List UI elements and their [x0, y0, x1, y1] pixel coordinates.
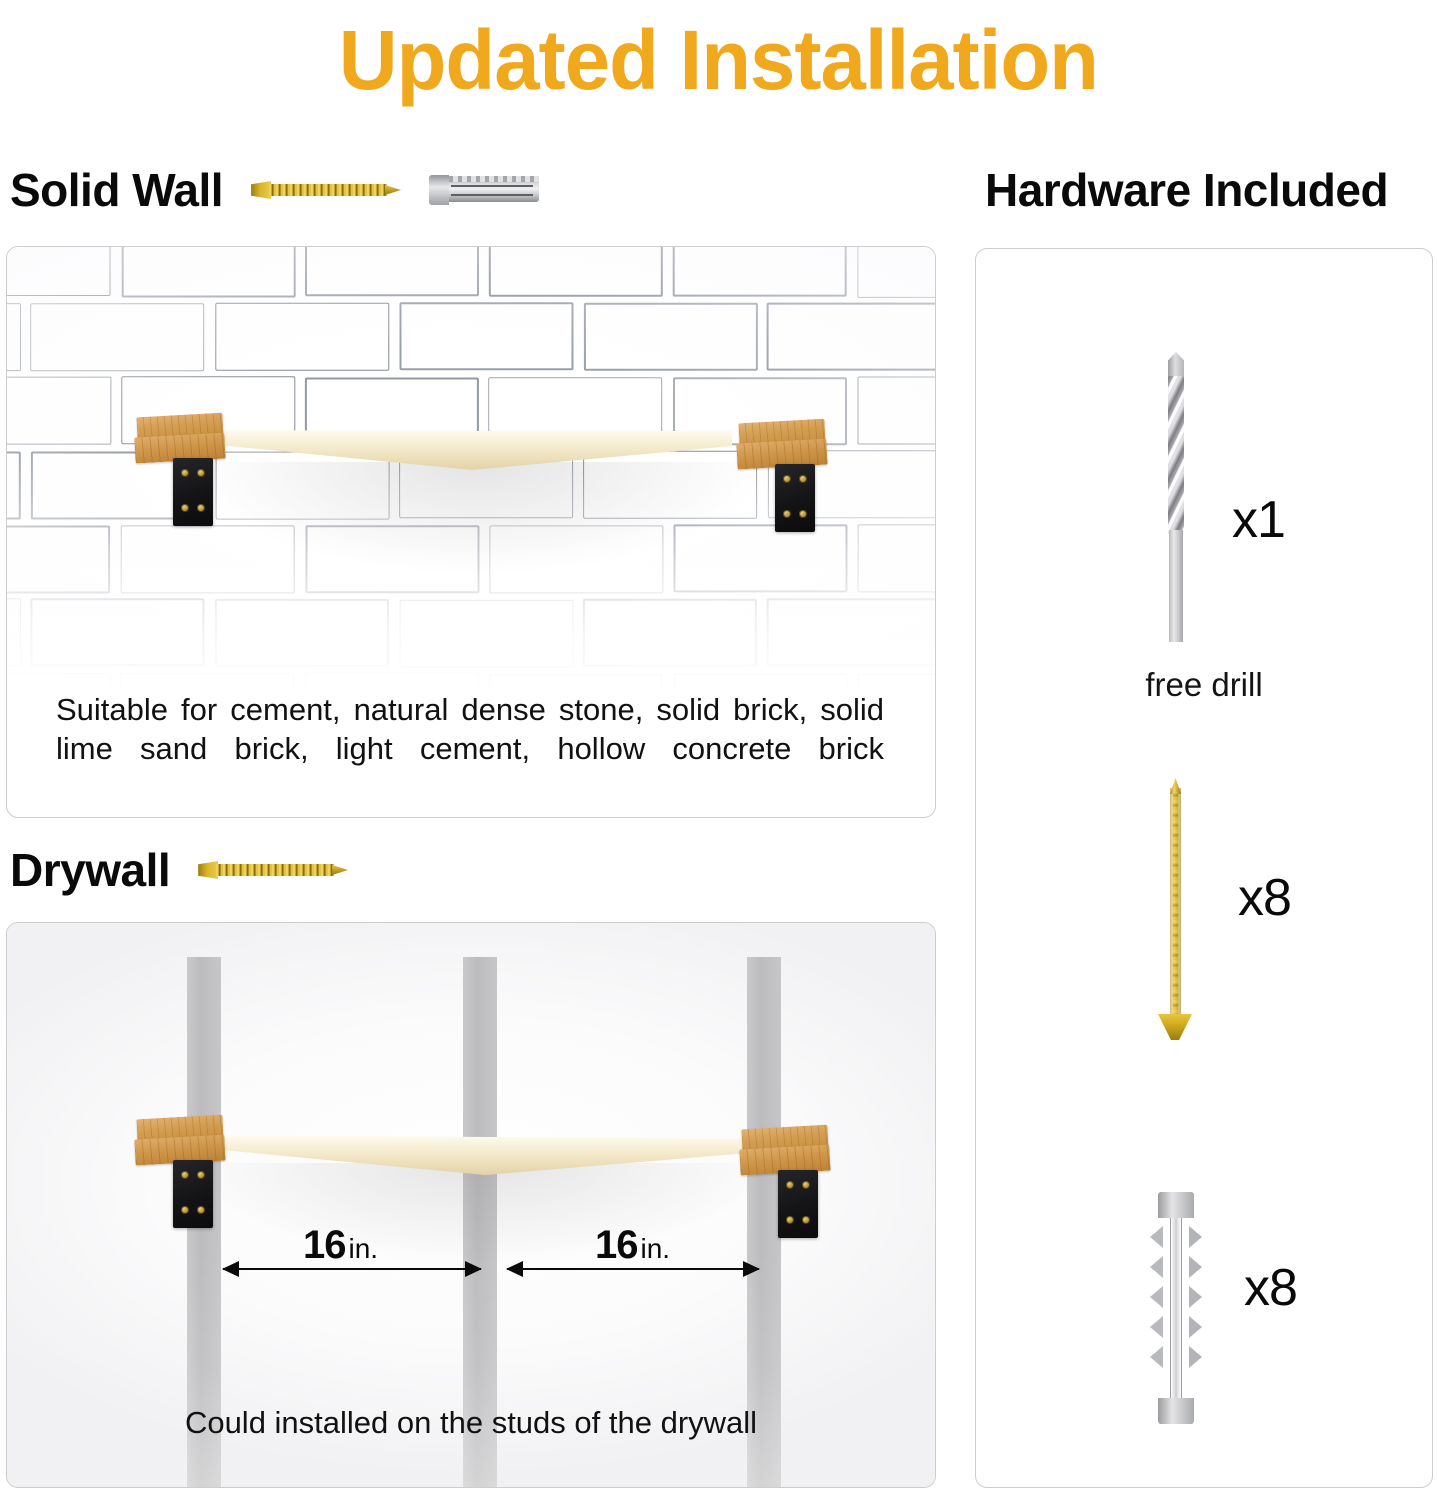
page-header: Updated Installation	[0, 0, 1437, 120]
shelf-assembly-drywall	[7, 923, 935, 1487]
wall-bracket-right	[740, 1125, 832, 1221]
drywall-heading: Drywall	[10, 843, 170, 897]
wall-bracket-left	[135, 1115, 227, 1211]
page-title: Updated Installation	[339, 18, 1098, 102]
drywall-caption: Could installed on the studs of the dryw…	[7, 1405, 935, 1441]
hardware-panel	[975, 248, 1433, 1488]
drill-bit-caption: free drill	[975, 666, 1433, 704]
wall-anchor-icon	[429, 175, 539, 205]
solid-wall-caption: Suitable for cement, natural dense stone…	[56, 690, 884, 807]
drill-bit-count: x1	[1232, 490, 1285, 550]
dimension-label-right: 16in.	[595, 1223, 670, 1268]
drywall-heading-row: Drywall	[10, 843, 348, 897]
drywall-panel: 16in. 16in. Could installed on the studs…	[6, 922, 936, 1488]
wall-anchor-count: x8	[1244, 1258, 1297, 1318]
screw-icon	[198, 859, 348, 881]
hardware-heading: Hardware Included	[985, 163, 1388, 217]
dimension-label-left: 16in.	[303, 1223, 378, 1268]
wall-anchor-icon	[1155, 1192, 1197, 1424]
solid-wall-heading: Solid Wall	[10, 163, 223, 217]
dimension-arrow-right	[507, 1268, 759, 1270]
bracket-plate-right	[778, 1170, 818, 1238]
solid-wall-heading-row: Solid Wall	[10, 163, 539, 217]
bracket-plate-right	[775, 464, 815, 532]
shelf-assembly-solid	[7, 247, 936, 687]
wall-bracket-left	[135, 413, 227, 509]
bracket-plate-left	[173, 1160, 213, 1228]
bracket-plate-left	[173, 458, 213, 526]
screw-icon	[251, 179, 401, 201]
hardware-heading-row: Hardware Included	[985, 163, 1388, 217]
screw-icon	[1158, 778, 1192, 1046]
dimension-arrow-left	[223, 1268, 481, 1270]
wall-bracket-right	[737, 419, 829, 515]
drill-bit-icon	[1163, 352, 1189, 642]
screw-count: x8	[1238, 868, 1291, 928]
